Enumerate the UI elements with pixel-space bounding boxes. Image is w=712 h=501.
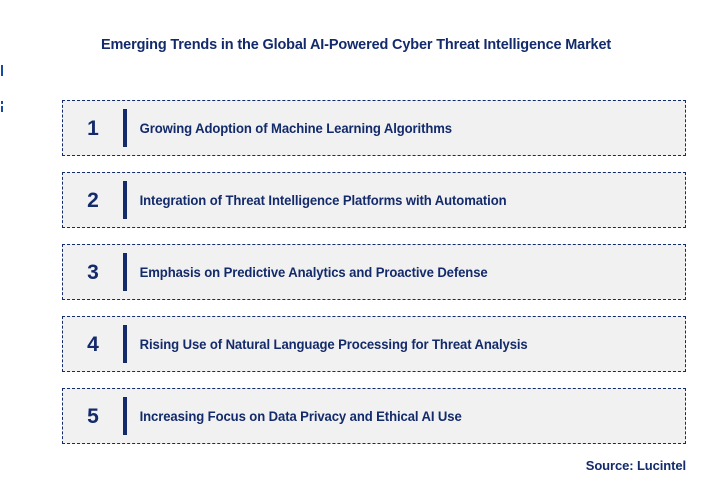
- trend-label: Growing Adoption of Machine Learning Alg…: [127, 121, 452, 136]
- trend-rank: 5: [63, 406, 123, 427]
- trend-row[interactable]: 3 Emphasis on Predictive Analytics and P…: [62, 244, 686, 300]
- trend-label: Integration of Threat Intelligence Platf…: [127, 193, 507, 208]
- left-edge-artifact-1: [1, 65, 3, 76]
- page-title: Emerging Trends in the Global AI-Powered…: [12, 36, 699, 53]
- trend-rank: 2: [63, 190, 123, 211]
- trend-row[interactable]: 5 Increasing Focus on Data Privacy and E…: [62, 388, 686, 444]
- trend-list: 1 Growing Adoption of Machine Learning A…: [62, 100, 686, 444]
- trend-rank: 3: [63, 262, 123, 283]
- trend-rank: 4: [63, 334, 123, 355]
- left-edge-artifact-2: [1, 101, 3, 104]
- left-edge-artifact-3: [1, 106, 3, 112]
- trend-label: Increasing Focus on Data Privacy and Eth…: [127, 409, 462, 424]
- trend-rank: 1: [63, 118, 123, 139]
- trend-label: Emphasis on Predictive Analytics and Pro…: [127, 265, 488, 280]
- source-attribution: Source: Lucintel: [586, 458, 686, 473]
- trend-row[interactable]: 4 Rising Use of Natural Language Process…: [62, 316, 686, 372]
- trend-label: Rising Use of Natural Language Processin…: [127, 337, 528, 352]
- trend-row[interactable]: 2 Integration of Threat Intelligence Pla…: [62, 172, 686, 228]
- trend-row[interactable]: 1 Growing Adoption of Machine Learning A…: [62, 100, 686, 156]
